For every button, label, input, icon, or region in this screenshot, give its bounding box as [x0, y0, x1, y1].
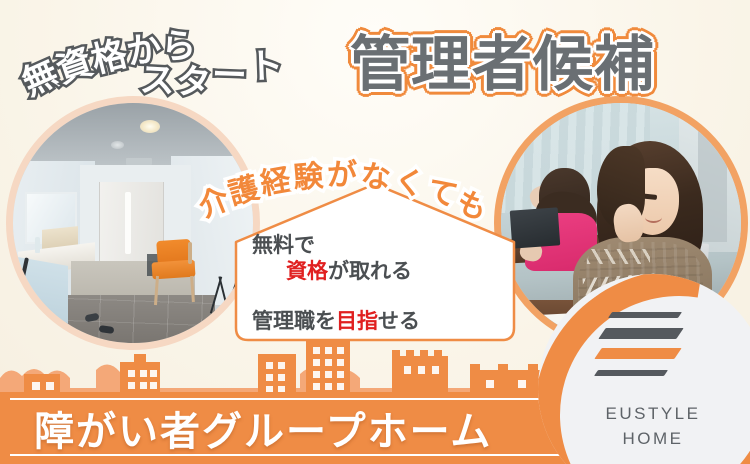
sub-headline-char-5: な [359, 151, 393, 197]
logo-bar-3-orange [594, 348, 681, 359]
sub-headline-arc: 介 護 経 験 が な く て も [196, 150, 520, 214]
sub-headline-char-6: く [391, 156, 428, 205]
sub-headline-char-2: 経 [256, 155, 293, 204]
photo-chair-arm [188, 242, 192, 264]
foreground-woman-knit-pattern-top [587, 249, 649, 263]
brand-name-line-2: HOME [538, 427, 750, 452]
logo-bar-2 [598, 328, 683, 339]
benefit-line-3: 管理職を目指せる [246, 310, 504, 332]
brand-name-line-1: EUSTYLE [538, 402, 750, 427]
benefit-line-1: 無料で [246, 234, 504, 256]
tagline-char-8: ト [247, 37, 284, 89]
photo-bottle [35, 237, 40, 253]
service-name: 障がい者グループホーム [34, 399, 492, 457]
sub-headline-char-3: 験 [291, 151, 325, 197]
logo-bar-1 [608, 312, 682, 318]
photo-ceiling-vent [126, 158, 152, 165]
benefit-line-2-highlight: 資格 [286, 259, 328, 283]
sub-headline-char-4: が [327, 150, 357, 194]
photo-ceiling-light [140, 120, 160, 133]
page-title: 管理者候補 [350, 16, 655, 103]
benefits-text: 無料で 資格が取れる 管理職を目指せる [246, 234, 504, 332]
tagline-char-6: タ [174, 53, 213, 107]
benefit-line-2: 資格が取れる [246, 260, 504, 282]
facility-entrance-photo [6, 96, 260, 350]
eustyle-logo-icon [596, 308, 682, 392]
tagline-arc: 無 資 格 か ら ス タ ー ト [22, 14, 352, 98]
logo-bar-4 [594, 370, 668, 376]
photo-door-slit [125, 192, 131, 254]
tagline-char-5: ス [139, 51, 177, 104]
brand-name: EUSTYLE HOME [538, 402, 750, 451]
benefit-line-2-rest: が取れる [328, 259, 412, 283]
recruitment-banner: 無 資 格 か ら ス タ ー ト 管理者候補 無料で 資格が取れる 管理職を目… [0, 0, 750, 464]
foreground-woman-smile [645, 211, 662, 223]
tagline-char-7: ー [211, 46, 248, 98]
facility-entrance-photo-content [13, 103, 253, 343]
